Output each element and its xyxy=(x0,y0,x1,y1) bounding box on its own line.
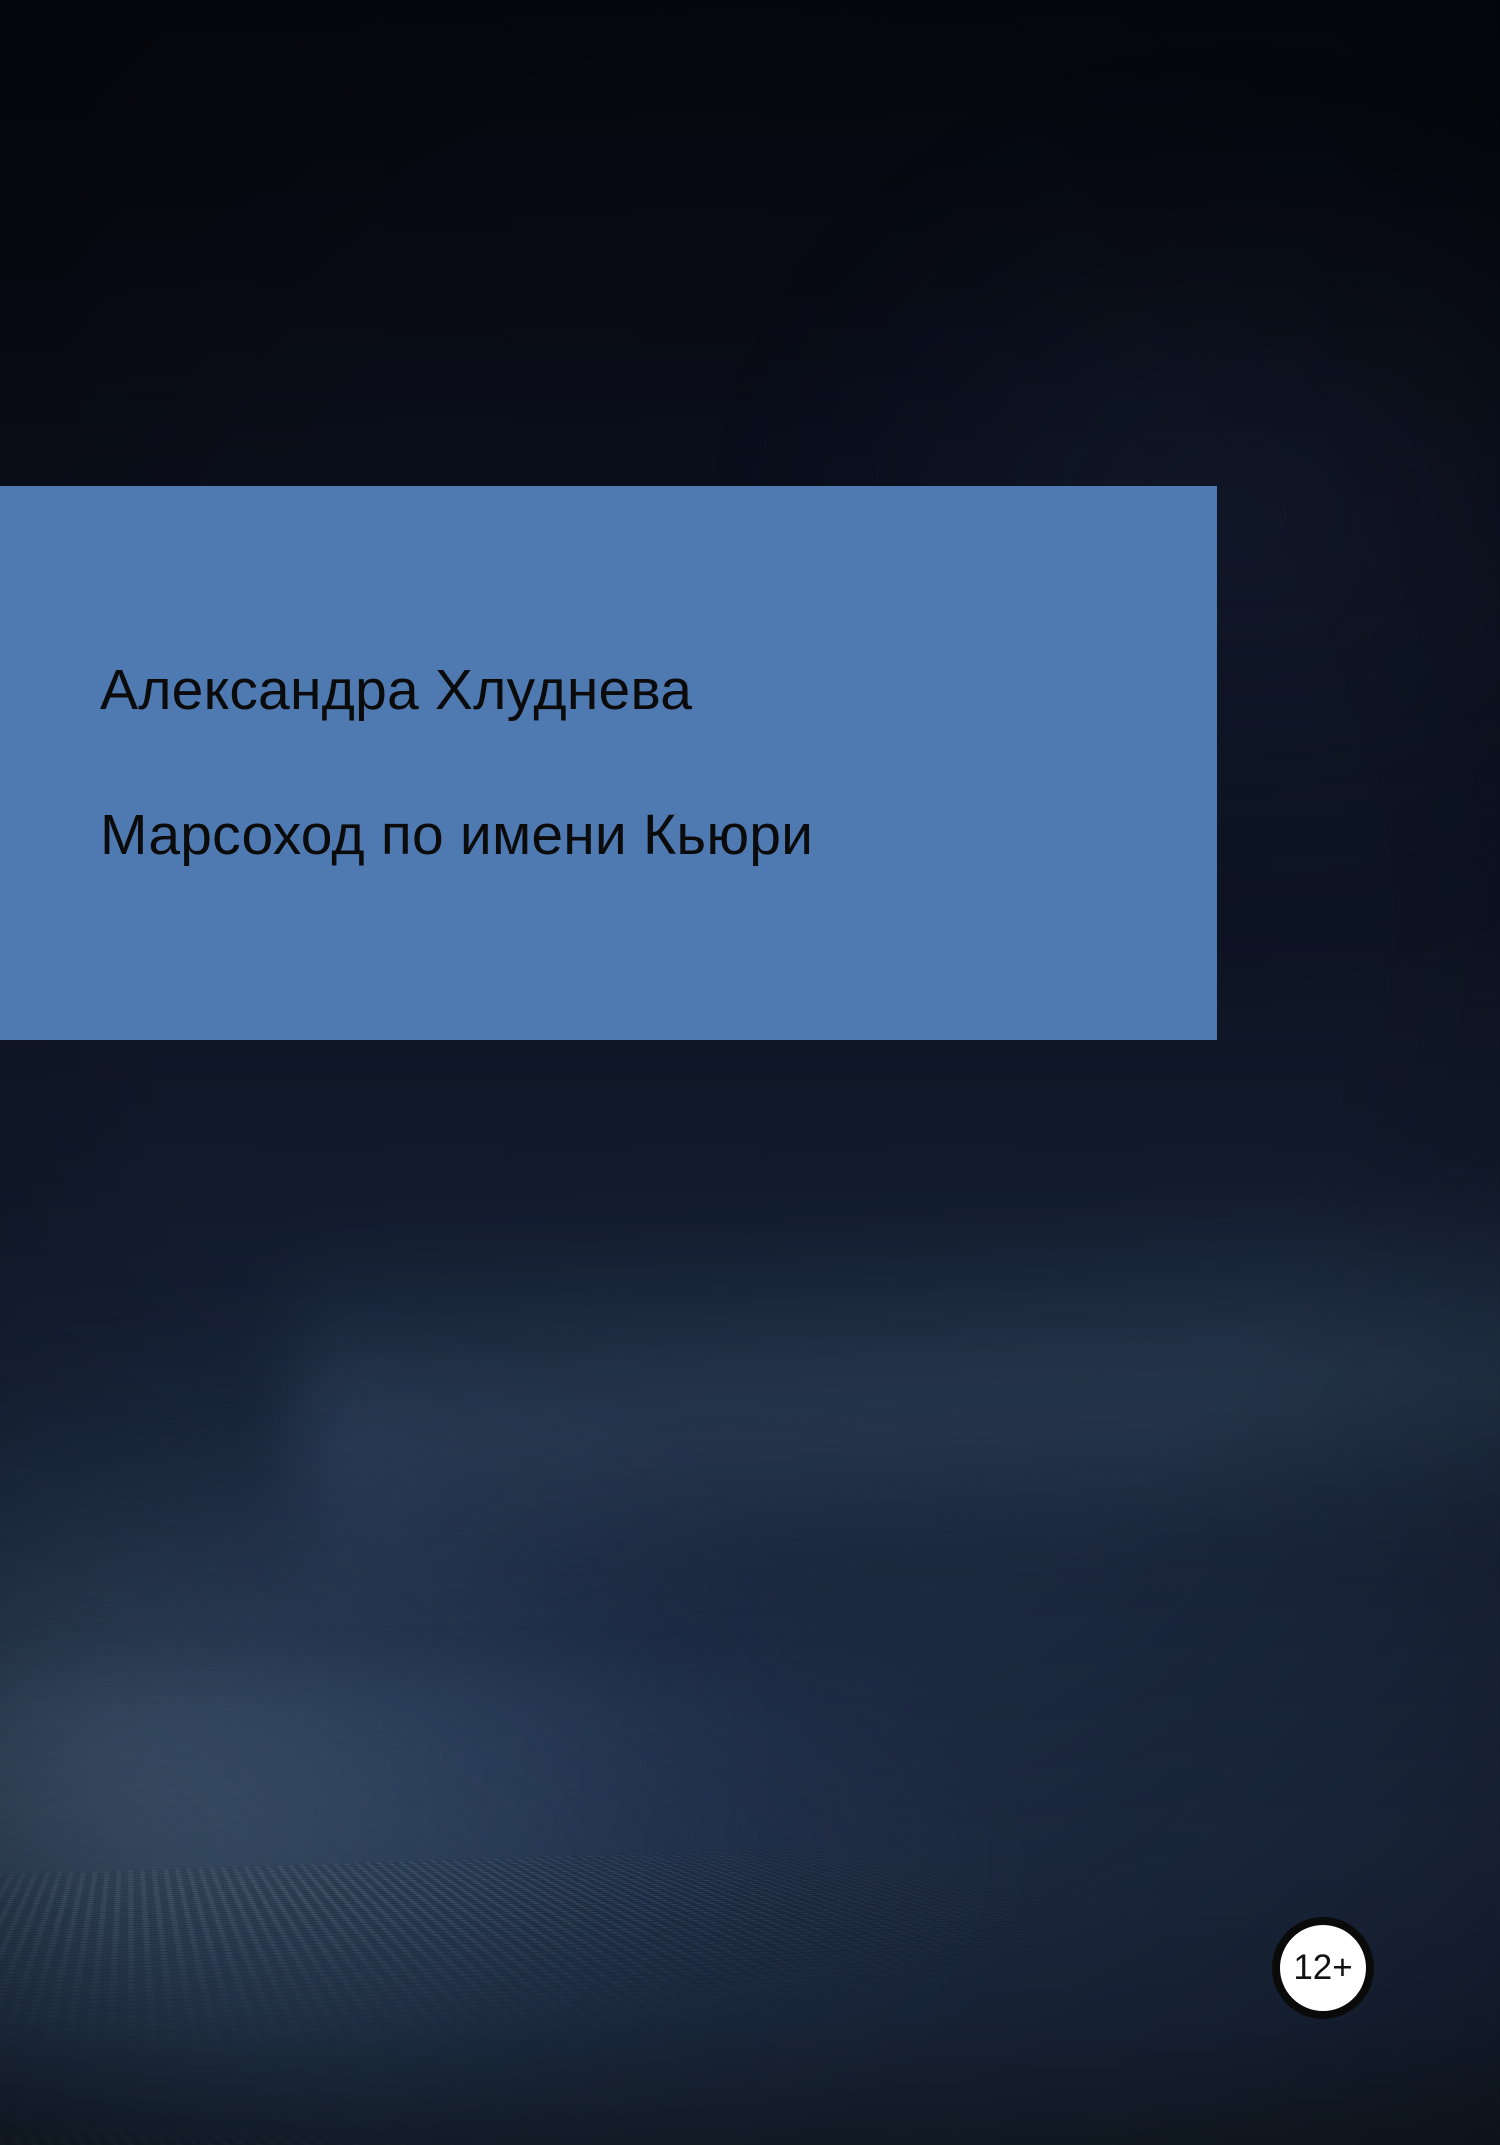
book-title: Марсоход по имени Кьюри xyxy=(100,802,1217,869)
background-foreground-blur xyxy=(0,1673,1500,2145)
background-glow-band xyxy=(291,1166,1500,1601)
title-plate: Александра Хлуднева Марсоход по имени Кь… xyxy=(0,486,1217,1040)
age-rating-label: 12+ xyxy=(1293,1950,1352,1985)
author-name: Александра Хлуднева xyxy=(100,657,1217,724)
book-cover: Александра Хлуднева Марсоход по имени Кь… xyxy=(0,0,1500,2145)
age-rating-badge: 12+ xyxy=(1272,1917,1374,2019)
